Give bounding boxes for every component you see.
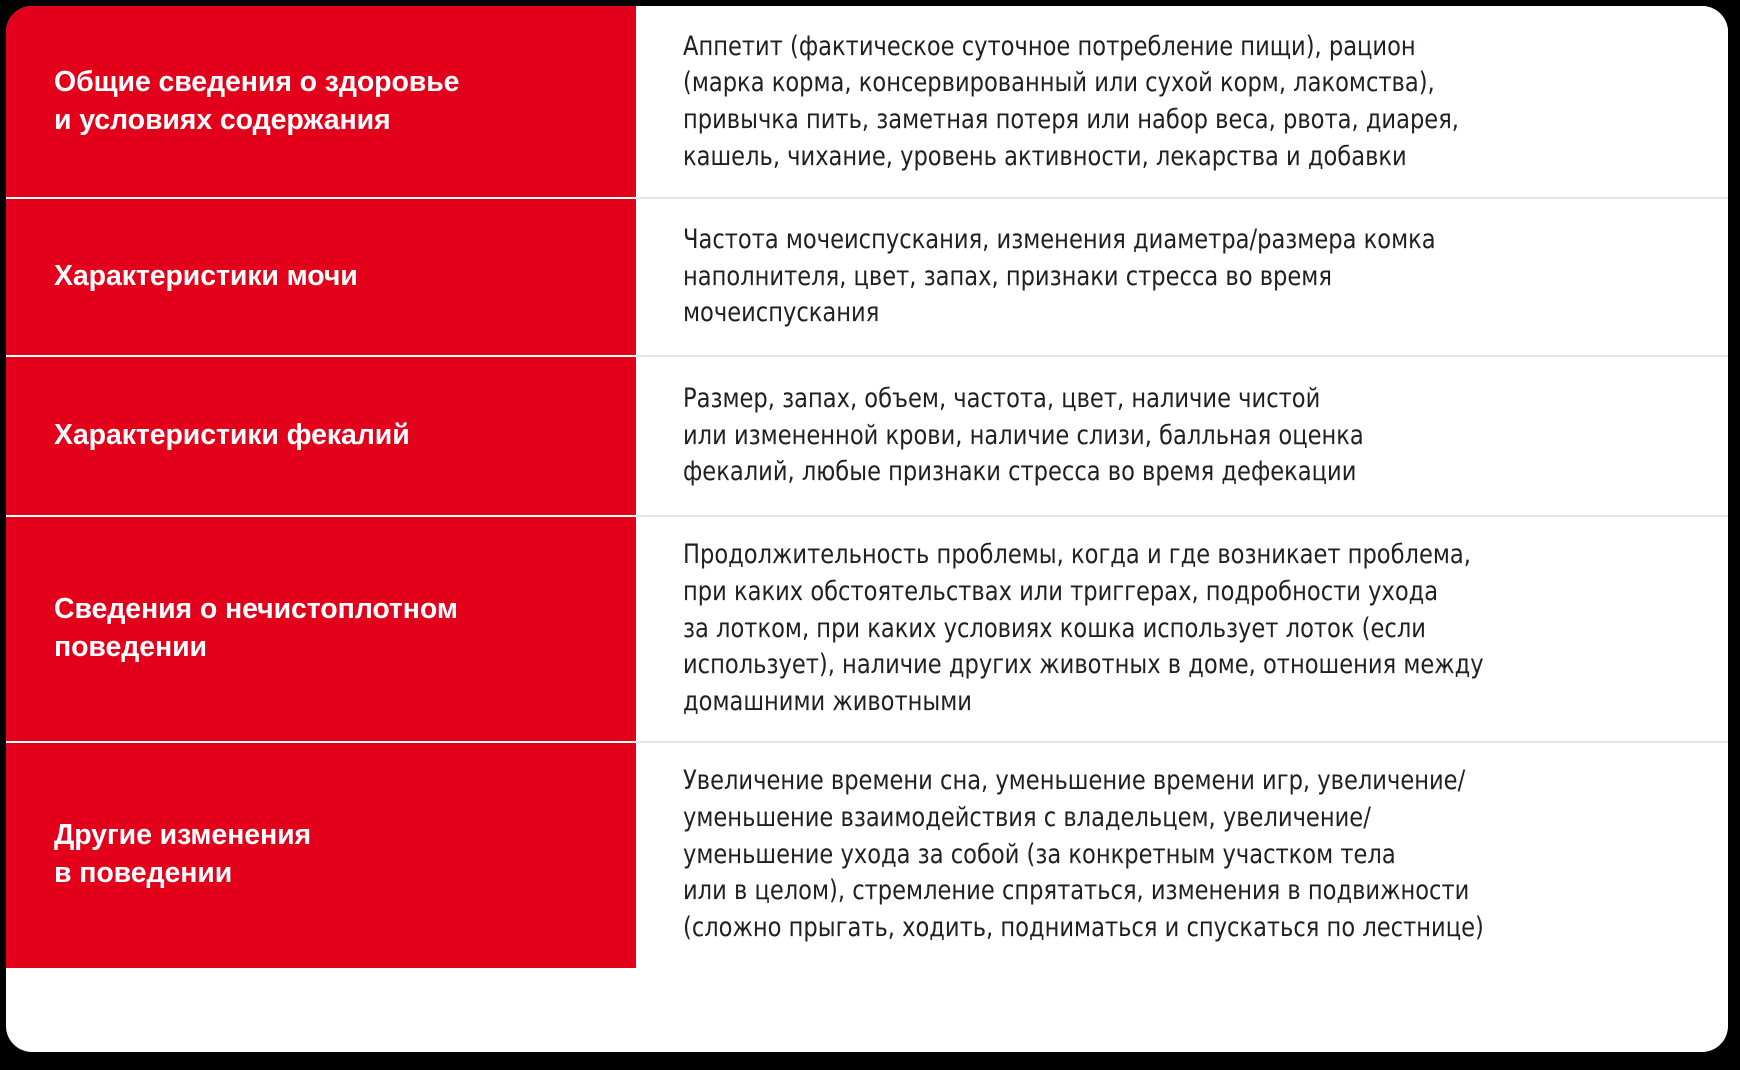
table-row-details-text: Продолжительность проблемы, когда и где … — [683, 537, 1484, 721]
table-row-category-label: Другие изменения в поведении — [54, 817, 311, 892]
table-row-category-cell: Характеристики мочи — [6, 198, 636, 356]
table-row-details-cell: Частота мочеиспускания, изменения диамет… — [636, 198, 1728, 356]
table-row: Характеристики мочи Частота мочеиспускан… — [6, 198, 1728, 356]
table-row: Характеристики фекалий Размер, запах, об… — [6, 356, 1728, 516]
table-row-category-label: Характеристики мочи — [54, 258, 358, 296]
table-row-details-text: Частота мочеиспускания, изменения диамет… — [683, 222, 1436, 332]
table-row: Сведения о нечистоплотном поведении Прод… — [6, 516, 1728, 742]
table-row: Другие изменения в поведении Увеличение … — [6, 742, 1728, 968]
table-row-category-label: Общие сведения о здоровье и условиях сод… — [54, 64, 459, 139]
page-root: Общие сведения о здоровье и условиях сод… — [0, 0, 1740, 1070]
table-row-category-cell: Сведения о нечистоплотном поведении — [6, 516, 636, 742]
table-row-category-cell: Характеристики фекалий — [6, 356, 636, 516]
table-row-category-label: Сведения о нечистоплотном поведении — [54, 591, 458, 666]
table-row-category-label: Характеристики фекалий — [54, 417, 410, 455]
table-row-details-cell: Размер, запах, объем, частота, цвет, нал… — [636, 356, 1728, 516]
table-row-details-text: Увеличение времени сна, уменьшение време… — [683, 763, 1484, 947]
table-row-details-text: Аппетит (фактическое суточное потреблени… — [683, 29, 1459, 176]
table-row-category-cell: Общие сведения о здоровье и условиях сод… — [6, 6, 636, 198]
table-row-details-cell: Продолжительность проблемы, когда и где … — [636, 516, 1728, 742]
anamnesis-table-card: Общие сведения о здоровье и условиях сод… — [6, 6, 1728, 1052]
table-row-details-cell: Увеличение времени сна, уменьшение време… — [636, 742, 1728, 968]
table-row-category-cell: Другие изменения в поведении — [6, 742, 636, 968]
table-row-details-cell: Аппетит (фактическое суточное потреблени… — [636, 6, 1728, 198]
table-row-details-text: Размер, запах, объем, частота, цвет, нал… — [683, 381, 1364, 491]
table-row: Общие сведения о здоровье и условиях сод… — [6, 6, 1728, 198]
